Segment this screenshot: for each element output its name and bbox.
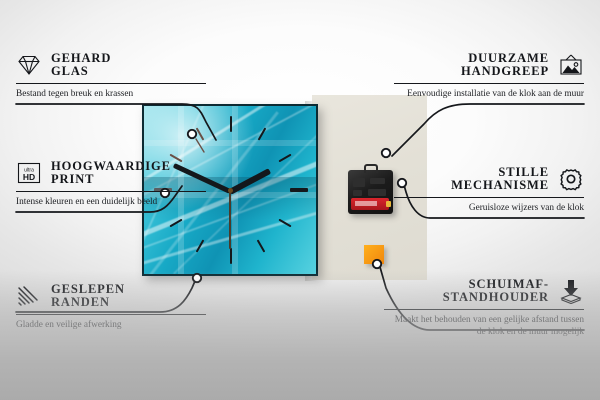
clock-tick-3 [290,188,308,192]
feature-title-line2: MECHANISME [451,179,549,192]
feature-title-line1: DUURZAME [461,52,549,65]
battery-positive-terminal [386,201,391,207]
feature-divider [16,314,206,315]
diamond-icon [16,52,42,78]
gear-icon [558,166,584,192]
feature-title-line1: HOOGWAARDIGE [51,160,171,173]
feature-hoogwaardige-print: ultra HD HOOGWAARDIGE PRINT Intense kleu… [16,160,206,208]
clock-center-pin [228,188,233,193]
mechanism-slot-4 [368,189,386,196]
feature-gehard-glas: GEHARD GLAS Bestand tegen breuk en krass… [16,52,206,100]
feature-titles: DUURZAME HANDGREEP [461,52,549,79]
arrow-down-onto-block-icon [558,278,584,304]
svg-text:HD: HD [23,172,35,182]
feature-geslepen-randen: GESLEPEN RANDEN Gladde en veilige afwerk… [16,283,206,331]
feature-divider [16,191,206,192]
feature-title-line1: GEHARD [51,52,111,65]
feature-title-line1: GESLEPEN [51,283,125,296]
feature-description: Intense kleuren en een duidelijk beeld [16,196,206,208]
feature-titles: STILLE MECHANISME [451,166,549,193]
foam-spacer-pad [364,245,384,264]
feature-description: Geruisloze wijzers van de klok [394,202,584,214]
mechanism-slot-3 [353,190,362,196]
feature-titles: SCHUIMAF- STANDHOUDER [443,278,549,305]
feature-title-line1: SCHUIMAF- [443,278,549,291]
feature-title-line2: HANDGREEP [461,65,549,78]
feature-titles: GEHARD GLAS [51,52,111,79]
feature-divider [16,83,206,84]
feature-description: Bestand tegen breuk en krassen [16,88,206,100]
feature-title-line2: STANDHOUDER [443,291,549,304]
feature-divider [384,309,584,310]
picture-frame-icon [558,52,584,78]
feature-header: DUURZAME HANDGREEP [394,52,584,79]
feature-header: GESLEPEN RANDEN [16,283,206,310]
feature-titles: HOOGWAARDIGE PRINT [51,160,171,187]
feature-description: Gladde en veilige afwerking [16,319,206,331]
feature-divider [394,83,584,84]
ultra-hd-icon: ultra HD [16,160,42,186]
infographic-canvas: GEHARD GLAS Bestand tegen breuk en krass… [0,0,600,400]
feature-divider [394,197,584,198]
feature-title-line2: RANDEN [51,296,125,309]
aa-battery [351,198,389,210]
battery-label [355,201,377,206]
mechanism-slot-1 [353,178,365,187]
bevelled-edge-icon [16,283,42,309]
feature-stille-mechanisme: STILLE MECHANISME Geruisloze wijzers van… [394,166,584,214]
mechanism-hanger [364,164,378,173]
clock-mechanism [348,170,393,214]
feature-header: ultra HD HOOGWAARDIGE PRINT [16,160,206,187]
mechanism-slot-2 [370,178,385,184]
clock-tick-12 [230,116,232,132]
feature-title-line2: PRINT [51,173,171,186]
feature-schuimaf-standhouder: SCHUIMAF- STANDHOUDER Maakt het behouden… [384,278,584,338]
feature-title-line1: STILLE [451,166,549,179]
feature-description: Maakt het behouden van een gelijke afsta… [384,314,584,339]
clock-tick-6 [230,248,232,264]
feature-duurzame-handgreep: DUURZAME HANDGREEP Eenvoudige installati… [394,52,584,100]
feature-description: Eenvoudige installatie van de klok aan d… [394,88,584,100]
feature-title-line2: GLAS [51,65,111,78]
feature-titles: GESLEPEN RANDEN [51,283,125,310]
feature-header: STILLE MECHANISME [394,166,584,193]
feature-header: SCHUIMAF- STANDHOUDER [384,278,584,305]
reflection-line-h1 [144,140,316,146]
feature-header: GEHARD GLAS [16,52,206,79]
clock-second-hand [229,191,231,249]
